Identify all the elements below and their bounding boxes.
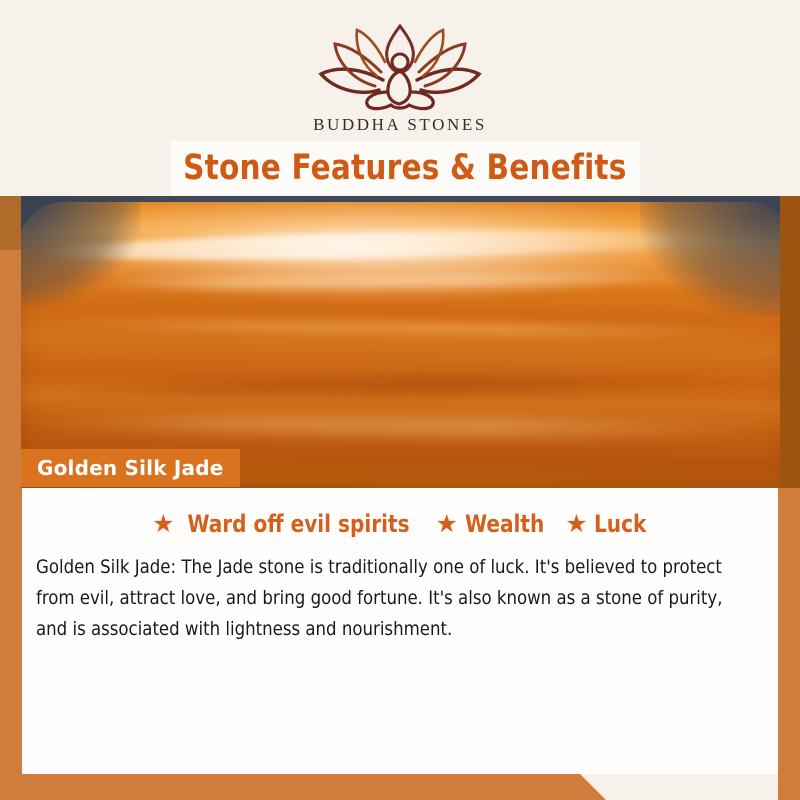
stone-streak (51, 375, 751, 397)
stone-description: Golden Silk Jade: The Jade stone is trad… (36, 552, 742, 644)
stone-photo (21, 196, 780, 488)
star-icon: ★ (152, 512, 174, 537)
lotus-meditation-icon (305, 22, 495, 112)
frame-bottom-band (0, 774, 800, 800)
benefit-item: ★ Wealth (435, 510, 547, 538)
photo-corner-shadow-right (640, 196, 780, 316)
benefits-list: ★ Ward off evil spirits ★ Wealth ★ Luck (22, 510, 778, 538)
stone-streak (71, 271, 731, 292)
brand-name: BUDDHA STONES (0, 115, 800, 135)
benefit-label: Ward off evil spirits (187, 510, 409, 538)
frame-right-photo-accent (778, 196, 800, 488)
content-panel: ★ Ward off evil spirits ★ Wealth ★ Luck … (22, 488, 778, 774)
header: BUDDHA STONES Stone Features & Benefits (0, 0, 800, 196)
star-icon: ★ (565, 512, 587, 537)
photo-corner-shadow-left (21, 196, 141, 306)
benefit-item: ★ Luck (565, 510, 648, 538)
title-panel: Stone Features & Benefits (170, 141, 640, 195)
star-icon: ★ (435, 512, 457, 537)
stone-streak (31, 317, 771, 339)
stone-name-badge: Golden Silk Jade (21, 449, 240, 487)
stone-name-label: Golden Silk Jade (37, 456, 224, 480)
page-title: Stone Features & Benefits (183, 148, 626, 188)
poster-root: BUDDHA STONES Stone Features & Benefits … (0, 0, 800, 800)
frame-left-upper-accent (0, 190, 22, 250)
benefit-label: Wealth (465, 510, 544, 538)
frame-left-band (0, 190, 22, 800)
benefit-label: Luck (594, 510, 646, 538)
stone-streak (41, 225, 741, 266)
benefit-item: ★ Ward off evil spirits (152, 510, 417, 538)
brand-logo: BUDDHA STONES (0, 22, 800, 135)
stone-streak (21, 412, 780, 440)
